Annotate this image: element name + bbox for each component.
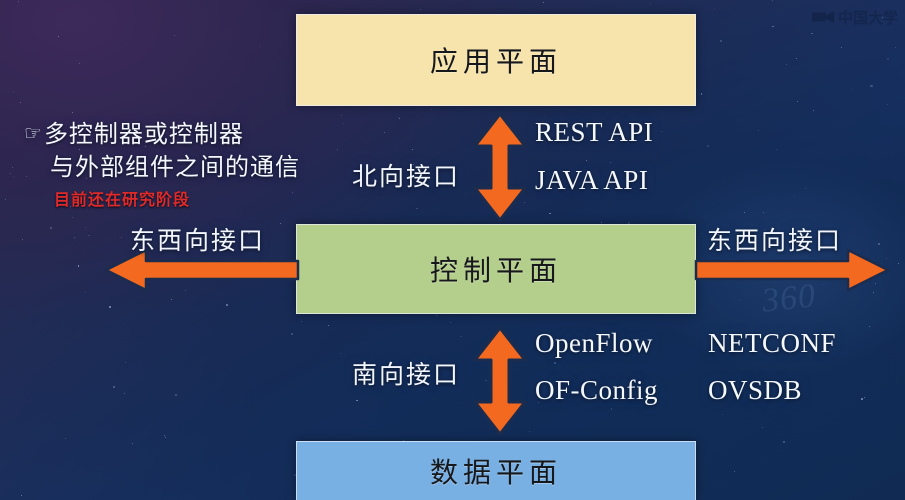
data-plane-label: 数据平面 bbox=[430, 451, 562, 491]
protocol-rest-api: REST API bbox=[535, 117, 653, 148]
application-plane-box: 应用平面 bbox=[296, 14, 696, 106]
southbound-double-arrow-icon bbox=[473, 326, 527, 436]
channel-watermark: 中国大学 bbox=[812, 6, 898, 28]
camera-icon bbox=[812, 10, 834, 24]
data-plane-box: 数据平面 bbox=[296, 441, 696, 500]
slide-canvas: 应用平面 控制平面 数据平面 北向接口 南向接口 东西向接口 东西向接口 RES… bbox=[0, 0, 905, 500]
northbound-double-arrow-icon bbox=[473, 112, 527, 222]
annotation-line-1-text: 多控制器或控制器 bbox=[44, 120, 244, 148]
protocol-netconf: NETCONF bbox=[708, 328, 836, 359]
annotation-line-2: 与外部组件之间的通信 bbox=[24, 151, 344, 184]
annotation-note: 目前还在研究阶段 bbox=[54, 186, 344, 210]
annotation-line-1: ☞多控制器或控制器 bbox=[24, 118, 344, 151]
protocol-ovsdb: OVSDB bbox=[708, 375, 802, 406]
control-plane-label: 控制平面 bbox=[430, 249, 562, 289]
control-plane-box: 控制平面 bbox=[296, 224, 696, 314]
corner-watermark: 360 bbox=[760, 277, 818, 320]
eastwest-interface-label-right: 东西向接口 bbox=[707, 221, 842, 257]
protocol-of-config: OF-Config bbox=[535, 375, 658, 406]
pointing-hand-icon: ☞ bbox=[24, 120, 43, 148]
protocol-openflow: OpenFlow bbox=[535, 328, 653, 359]
southbound-interface-label: 南向接口 bbox=[352, 355, 460, 391]
eastwest-interface-label-left: 东西向接口 bbox=[130, 221, 265, 257]
watermark-logo-text: 中国大学 bbox=[838, 7, 898, 28]
protocol-java-api: JAVA API bbox=[535, 165, 648, 196]
northbound-interface-label: 北向接口 bbox=[352, 157, 460, 193]
application-plane-label: 应用平面 bbox=[430, 40, 562, 80]
annotation-block: ☞多控制器或控制器 与外部组件之间的通信 目前还在研究阶段 bbox=[24, 118, 344, 210]
